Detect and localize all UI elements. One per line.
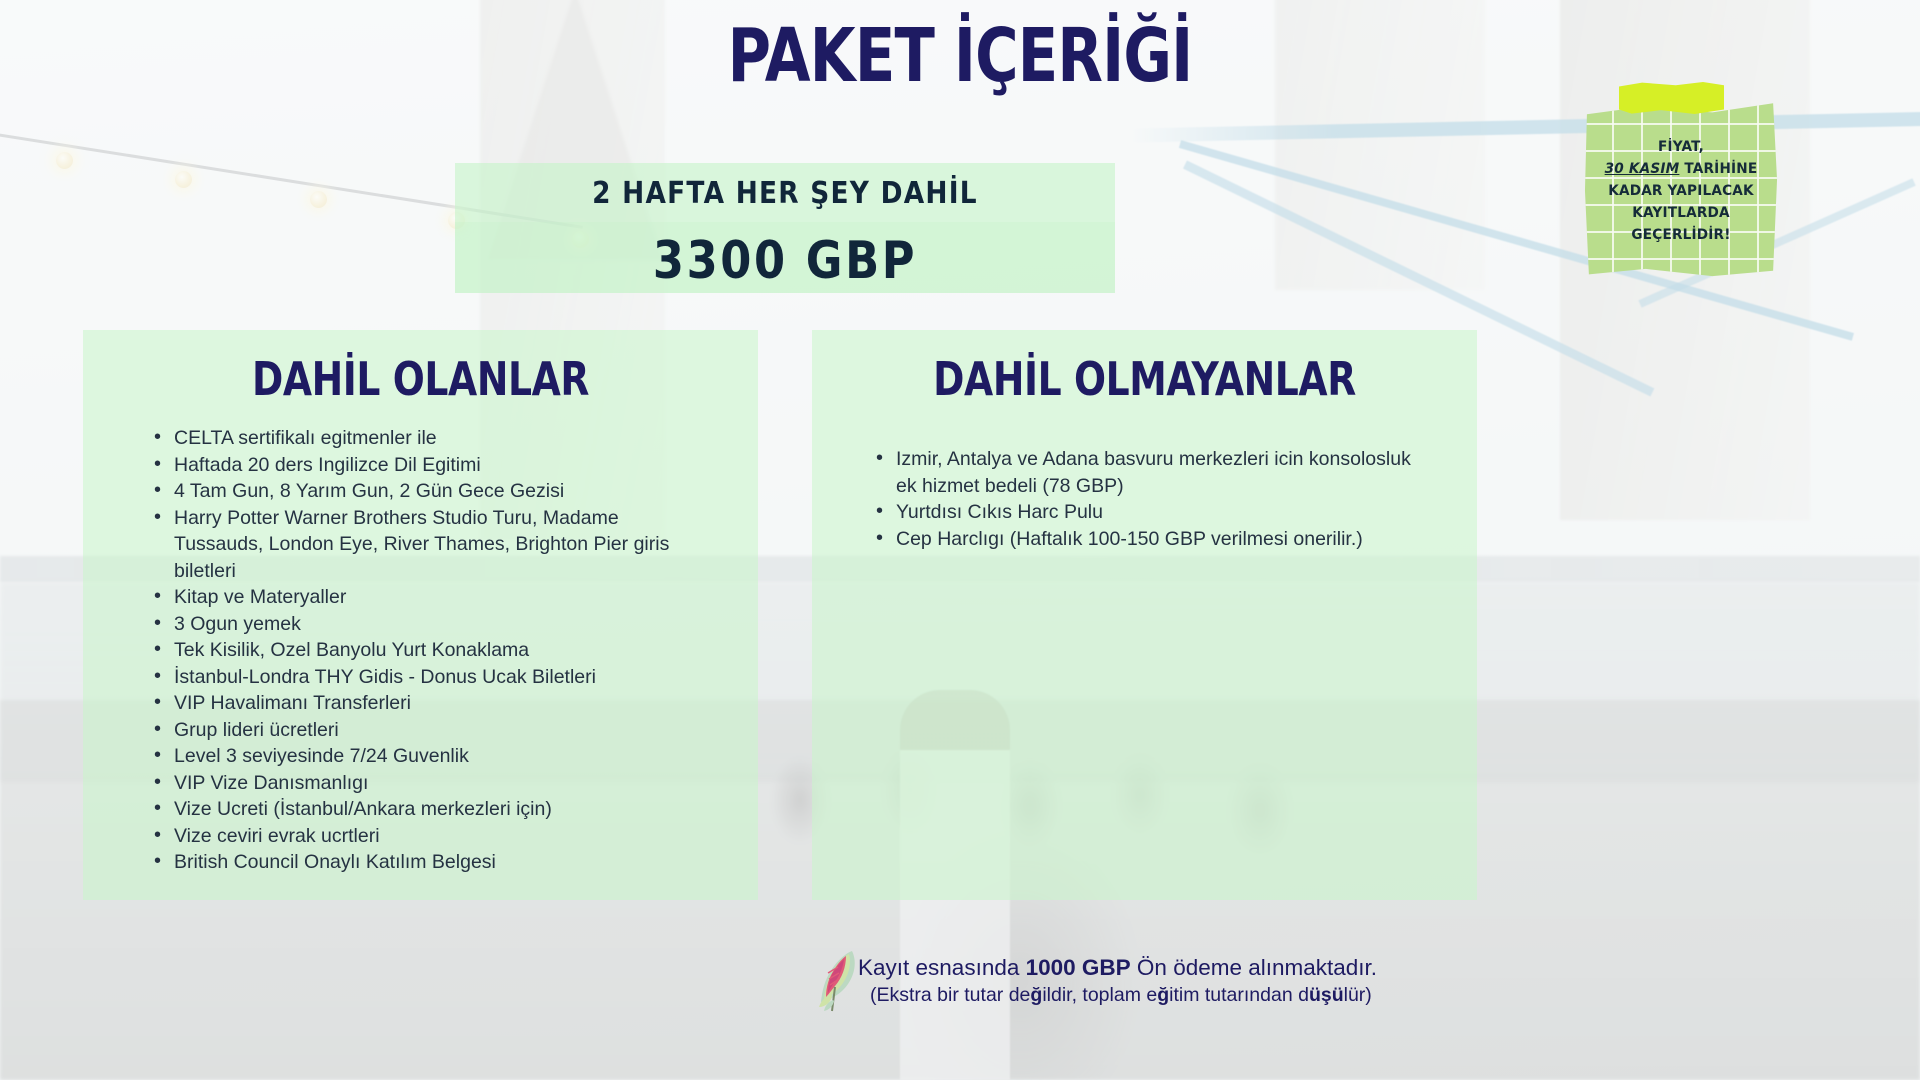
page-title: PAKET İÇERİĞİ	[192, 18, 1728, 95]
prepayment-note: Kayıt esnasında 1000 GBP Ön ödeme alınma…	[858, 955, 1478, 1007]
sticky-note-line-3: KADAR YAPILACAK	[1595, 180, 1768, 202]
excluded-list: Izmir, Antalya ve Adana basvuru merkezle…	[872, 446, 1432, 552]
list-item: Cep Harclıgı (Haftalık 100-150 GBP veril…	[872, 526, 1432, 553]
list-item: Vize ceviri evrak ucrtleri	[150, 823, 710, 850]
list-item: Vize Ucreti (İstanbul/Ankara merkezleri …	[150, 796, 710, 823]
sticky-note-line-1: FİYAT,	[1595, 136, 1768, 158]
prepayment-sub-g2: ğ	[1157, 984, 1169, 1006]
package-duration-label: 2 HAFTA HER ŞEY DAHİL	[495, 176, 1076, 211]
list-item: İstanbul-Londra THY Gidis - Donus Ucak B…	[150, 664, 710, 691]
prepayment-sub-d: lür)	[1344, 984, 1372, 1006]
prepayment-sub-line: (Ekstra bir tutar değildir, toplam eğiti…	[858, 984, 1478, 1007]
prepayment-sub-g3: üşü	[1309, 984, 1344, 1006]
list-item: British Council Onaylı Katılım Belgesi	[150, 849, 710, 876]
package-price: 3300 GBP	[501, 231, 1069, 291]
prepayment-main-line: Kayıt esnasında 1000 GBP Ön ödeme alınma…	[858, 955, 1478, 981]
sticky-note-deadline-date: 30 KASIM	[1605, 161, 1680, 177]
sticky-note-line-4: KAYITLARDA GEÇERLİDİR!	[1595, 202, 1768, 246]
excluded-title: DAHİL OLMAYANLAR	[872, 352, 1417, 406]
list-item: 3 Ogun yemek	[150, 611, 710, 638]
list-item: Izmir, Antalya ve Adana basvuru merkezle…	[872, 446, 1432, 499]
prepayment-sub-c: itim tutarından d	[1169, 984, 1309, 1006]
included-title: DAHİL OLANLAR	[144, 352, 698, 406]
list-item: Grup lideri ücretleri	[150, 717, 710, 744]
prepayment-amount: 1000 GBP	[1026, 955, 1131, 980]
feather-icon	[808, 947, 860, 1013]
prepayment-suffix: Ön ödeme alınmaktadır.	[1131, 955, 1377, 980]
list-item: VIP Vize Danısmanlıgı	[150, 770, 710, 797]
prepayment-sub-a: (Ekstra bir tutar de	[870, 984, 1030, 1006]
deadline-sticky-note: FİYAT, 30 KASIM TARİHİNE KADAR YAPILACAK…	[1583, 96, 1779, 278]
sticky-note-line-2: 30 KASIM TARİHİNE	[1595, 158, 1768, 180]
list-item: Tek Kisilik, Ozel Banyolu Yurt Konaklama	[150, 637, 710, 664]
list-item: Level 3 seviyesinde 7/24 Guvenlik	[150, 743, 710, 770]
list-item: Yurtdısı Cıkıs Harc Pulu	[872, 499, 1432, 526]
list-item: Haftada 20 ders Ingilizce Dil Egitimi	[150, 452, 710, 479]
sticky-note-line-2-rest: TARİHİNE	[1679, 161, 1757, 177]
list-item: CELTA sertifikalı egitmenler ile	[150, 425, 710, 452]
prepayment-sub-g1: ğ	[1030, 984, 1042, 1006]
poster-content: PAKET İÇERİĞİ 2 HAFTA HER ŞEY DAHİL 3300…	[0, 0, 1920, 1080]
excluded-panel	[812, 330, 1477, 900]
sticky-note-text: FİYAT, 30 KASIM TARİHİNE KADAR YAPILACAK…	[1595, 136, 1768, 246]
list-item: Kitap ve Materyaller	[150, 584, 710, 611]
included-list: CELTA sertifikalı egitmenler ileHaftada …	[150, 425, 710, 876]
prepayment-prefix: Kayıt esnasında	[858, 955, 1026, 980]
list-item: VIP Havalimanı Transferleri	[150, 690, 710, 717]
list-item: 4 Tam Gun, 8 Yarım Gun, 2 Gün Gece Gezis…	[150, 478, 710, 505]
list-item: Harry Potter Warner Brothers Studio Turu…	[150, 505, 710, 585]
prepayment-sub-b: ildir, toplam e	[1042, 984, 1157, 1006]
sticky-note-tape	[1619, 82, 1724, 114]
